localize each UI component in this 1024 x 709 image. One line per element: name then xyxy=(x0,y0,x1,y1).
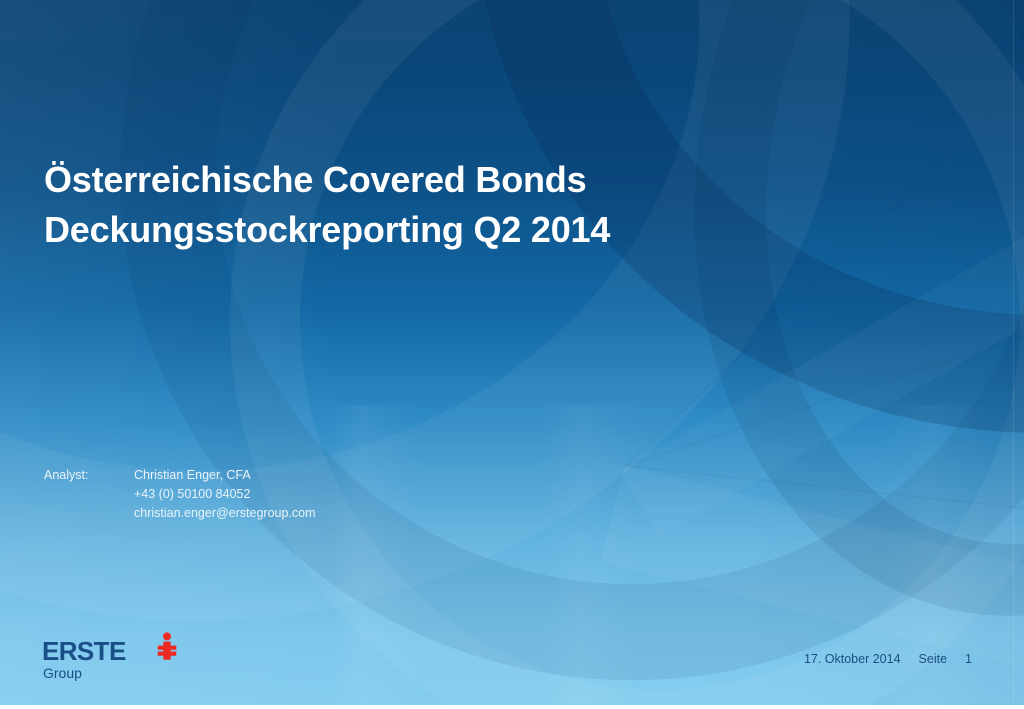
analyst-phone-row: +43 (0) 50100 84052 xyxy=(44,485,316,504)
slide-footer: 17. Oktober 2014 Seite 1 xyxy=(804,652,972,666)
slide-content: Österreichische Covered Bonds Deckungsst… xyxy=(0,0,1024,709)
title-line-2: Deckungsstockreporting Q2 2014 xyxy=(44,205,904,255)
analyst-phone: +43 (0) 50100 84052 xyxy=(134,485,250,504)
logo-subtitle: Group xyxy=(43,665,82,681)
analyst-label: Analyst: xyxy=(44,466,134,485)
slide-bottom-strip xyxy=(0,705,1024,709)
footer-page-number: 1 xyxy=(965,652,972,666)
analyst-email-row: christian.enger@erstegroup.com xyxy=(44,504,316,523)
analyst-email-spacer xyxy=(44,504,134,523)
analyst-name: Christian Enger, CFA xyxy=(134,466,251,485)
title-line-1: Österreichische Covered Bonds xyxy=(44,155,904,205)
footer-date: 17. Oktober 2014 xyxy=(804,652,901,666)
analyst-contact-block: Analyst: Christian Enger, CFA +43 (0) 50… xyxy=(44,466,316,523)
erste-group-logo: ERSTE Group xyxy=(42,634,222,690)
sparkassen-s-icon xyxy=(150,632,184,666)
logo-wordmark: ERSTE xyxy=(42,638,126,664)
analyst-email[interactable]: christian.enger@erstegroup.com xyxy=(134,504,316,523)
presentation-title-slide: Österreichische Covered Bonds Deckungsst… xyxy=(0,0,1024,709)
analyst-name-row: Analyst: Christian Enger, CFA xyxy=(44,466,316,485)
footer-page-label: Seite xyxy=(919,652,948,666)
analyst-phone-spacer xyxy=(44,485,134,504)
page-title: Österreichische Covered Bonds Deckungsst… xyxy=(44,155,904,255)
